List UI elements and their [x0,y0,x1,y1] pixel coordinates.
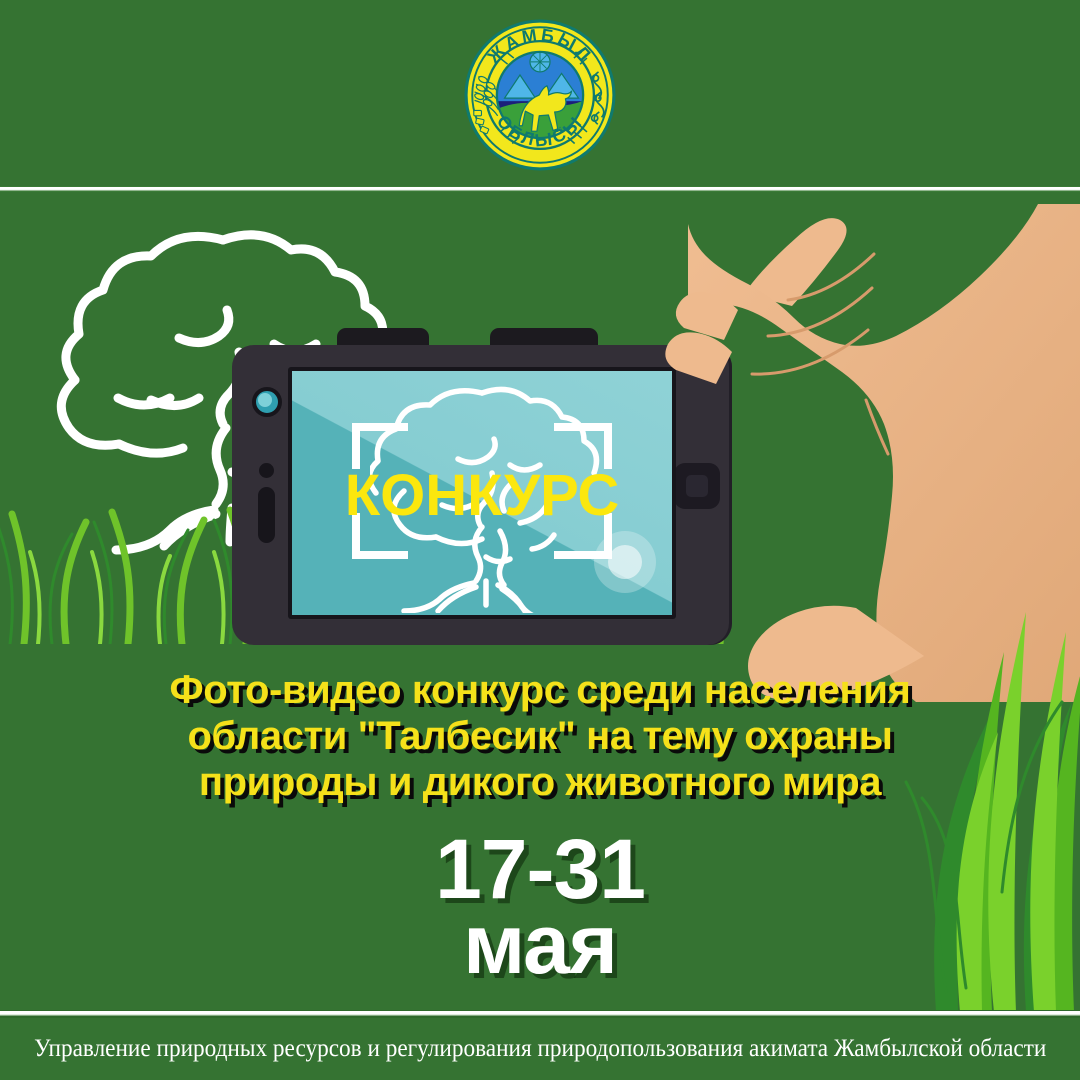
headline-line-1: Фото-видео конкурс среди населения [60,667,1020,713]
headline-line-2: области "Талбесик" на тему охраны [60,713,1020,759]
divider-bottom [0,1010,1080,1018]
phone-screen[interactable]: КОНКУРС [292,371,672,615]
date-month: мая [0,902,1080,986]
viewfinder-bracket-bottom-left-h [352,551,408,559]
camera-lens-icon [252,387,282,417]
emblem-logo: ЖАМБЫЛ ОБЛЫСЫ [463,18,617,172]
shutter-button-icon[interactable] [594,531,656,593]
footer-band: Управление природных ресурсов и регулиро… [0,1018,1080,1080]
sensor-dot-icon [259,463,274,478]
shutter-button-inner [608,545,642,579]
viewfinder-bracket-top-left-h [352,423,408,431]
headline-line-3: природы и дикого животного мира [60,759,1020,805]
illustration-stage: КОНКУРС [0,192,1080,1012]
konkurs-label: КОНКУРС [292,467,672,525]
headline-block: Фото-видео конкурс среди населения облас… [0,667,1080,805]
footer-organization-text: Управление природных ресурсов и регулиро… [34,1035,1046,1063]
header-band: ЖАМБЫЛ ОБЛЫСЫ [0,0,1080,188]
poster-root: ЖАМБЫЛ ОБЛЫСЫ [0,0,1080,1080]
speaker-icon [258,487,275,543]
